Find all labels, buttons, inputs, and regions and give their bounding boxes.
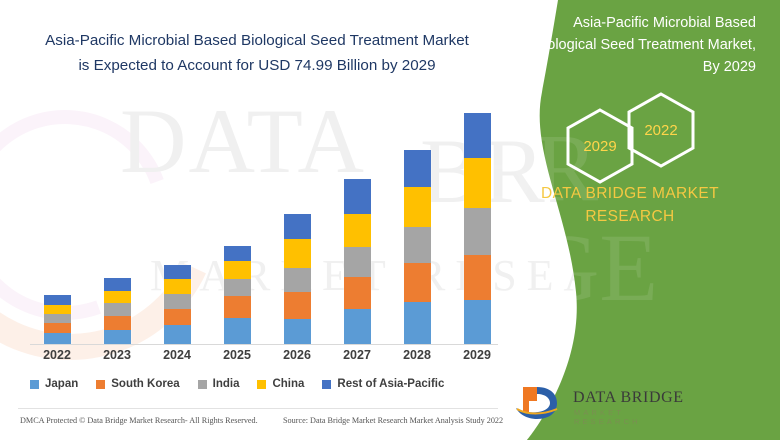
x-axis-label-2025: 2025 <box>207 348 267 362</box>
bar-segment <box>404 263 431 302</box>
bar-segment <box>44 305 71 314</box>
legend-item-india[interactable]: India <box>198 378 240 390</box>
bar-segment <box>104 291 131 303</box>
legend-item-china[interactable]: China <box>257 378 304 390</box>
x-axis-label-2029: 2029 <box>447 348 507 362</box>
legend-label: Japan <box>45 378 78 390</box>
bar-segment <box>164 279 191 294</box>
bar-segment <box>404 302 431 344</box>
bar-segment <box>104 278 131 291</box>
x-axis-label-2022: 2022 <box>27 348 87 362</box>
chart-legend: JapanSouth KoreaIndiaChinaRest of Asia-P… <box>30 374 500 394</box>
legend-label: South Korea <box>111 378 179 390</box>
bar-segment <box>164 325 191 344</box>
brand-name-line2: RESEARCH <box>480 205 780 228</box>
bar-segment <box>284 268 311 292</box>
legend-label: Rest of Asia-Pacific <box>337 378 444 390</box>
bar-segment <box>284 239 311 268</box>
x-axis-labels: 20222023202420252026202720282029 <box>22 348 502 368</box>
bar-segment <box>404 227 431 263</box>
bar-segment <box>464 208 491 255</box>
bar-segment <box>44 333 71 344</box>
bar-segment <box>404 187 431 227</box>
bar-segment <box>104 330 131 344</box>
page-title-line2: is Expected to Account for USD 74.99 Bil… <box>22 53 492 78</box>
bar-2022[interactable] <box>44 295 71 344</box>
bar-segment <box>344 309 371 344</box>
bar-segment <box>224 296 251 318</box>
bar-segment <box>404 150 431 187</box>
bar-segment <box>224 279 251 296</box>
x-axis-line <box>30 344 498 345</box>
x-axis-label-2026: 2026 <box>267 348 327 362</box>
legend-swatch-icon <box>322 380 331 389</box>
legend-swatch-icon <box>198 380 207 389</box>
bar-segment <box>344 179 371 214</box>
infographic-canvas: DATA BRIDGE MARKET RESEARCH BR GE Asia-P… <box>0 0 780 440</box>
data-bridge-b-mark-icon <box>513 385 571 425</box>
bar-segment <box>44 295 71 305</box>
bar-segment <box>464 113 491 158</box>
hexagon-group: 2022 2029 <box>548 92 708 182</box>
bar-segment <box>224 246 251 261</box>
bar-segment <box>344 277 371 309</box>
legend-swatch-icon <box>30 380 39 389</box>
legend-swatch-icon <box>96 380 105 389</box>
bar-segment <box>344 247 371 277</box>
hexagon-label-2022: 2022 <box>629 94 693 166</box>
x-axis-label-2028: 2028 <box>387 348 447 362</box>
panel-title: Asia-Pacific Microbial Based Biological … <box>534 12 756 78</box>
x-axis-label-2027: 2027 <box>327 348 387 362</box>
legend-label: China <box>272 378 304 390</box>
bar-segment <box>284 214 311 239</box>
bar-2024[interactable] <box>164 265 191 344</box>
bar-2026[interactable] <box>284 214 311 344</box>
logo-name: DATA BRIDGE <box>573 389 684 407</box>
bar-segment <box>104 316 131 330</box>
bar-segment <box>224 318 251 344</box>
stacked-bar-chart <box>22 100 502 345</box>
bar-segment <box>164 309 191 325</box>
bar-segment <box>44 314 71 323</box>
bar-segment <box>224 261 251 279</box>
x-axis-label-2023: 2023 <box>87 348 147 362</box>
bar-segment <box>284 292 311 319</box>
bar-segment <box>104 303 131 316</box>
x-axis-label-2024: 2024 <box>147 348 207 362</box>
bar-segment <box>464 300 491 344</box>
bar-segment <box>164 265 191 279</box>
page-title-line1: Asia-Pacific Microbial Based Biological … <box>22 28 492 53</box>
bar-segment <box>44 323 71 333</box>
legend-item-south-korea[interactable]: South Korea <box>96 378 179 390</box>
bar-2028[interactable] <box>404 150 431 344</box>
bar-2025[interactable] <box>224 246 251 344</box>
footer-source: Source: Data Bridge Market Research Mark… <box>283 416 503 425</box>
bar-2023[interactable] <box>104 278 131 344</box>
hexagon-label-2029: 2029 <box>568 110 632 182</box>
page-title: Asia-Pacific Microbial Based Biological … <box>22 28 492 78</box>
bar-segment <box>164 294 191 309</box>
bar-segment <box>464 255 491 300</box>
legend-swatch-icon <box>257 380 266 389</box>
bar-segment <box>464 158 491 208</box>
bar-segment <box>344 214 371 247</box>
legend-item-japan[interactable]: Japan <box>30 378 78 390</box>
bar-2029[interactable] <box>464 113 491 344</box>
bar-2027[interactable] <box>344 179 371 344</box>
data-bridge-logo: DATA BRIDGE MARKET RESEARCH <box>513 385 693 427</box>
legend-label: India <box>213 378 240 390</box>
logo-tagline: MARKET RESEARCH <box>574 408 693 426</box>
brand-name-line1: DATA BRIDGE MARKET <box>480 182 780 205</box>
chart-bars <box>22 100 502 345</box>
legend-item-rest-of-asia-pacific[interactable]: Rest of Asia-Pacific <box>322 378 444 390</box>
bar-segment <box>284 319 311 344</box>
brand-name: DATA BRIDGE MARKET RESEARCH <box>480 182 780 228</box>
svg-text:GE: GE <box>530 214 658 321</box>
brand-panel: BR GE Asia-Pacific Microbial Based Biolo… <box>480 0 780 440</box>
footer-divider <box>18 408 498 409</box>
footer-copyright: DMCA Protected © Data Bridge Market Rese… <box>20 416 258 425</box>
